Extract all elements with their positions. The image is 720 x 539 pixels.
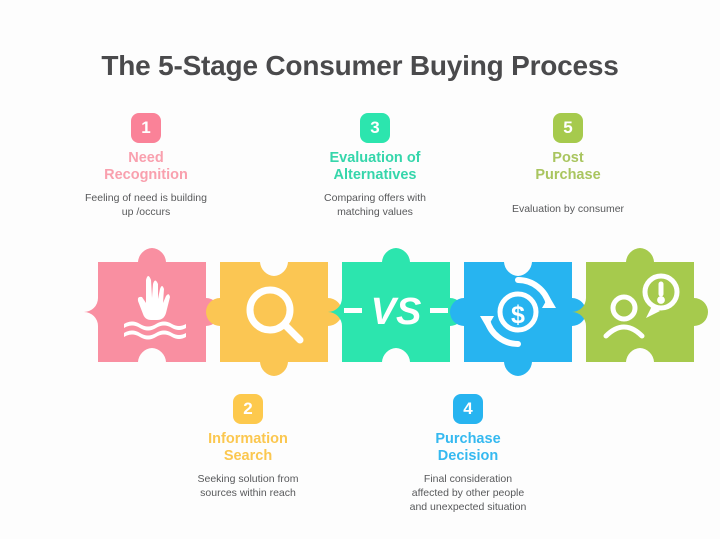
stage-desc-4-line3: and unexpected situation <box>368 500 568 514</box>
stage-badge-2: 2 <box>233 394 263 424</box>
stage-title-1: Need Recognition <box>46 150 246 184</box>
svg-text:VS: VS <box>371 291 422 333</box>
stage-title-3-line1: Evaluation of <box>255 150 495 167</box>
stage-desc-4-line1: Final consideration <box>368 472 568 486</box>
stage-desc-1: Feeling of need is building up /occurs <box>46 191 246 219</box>
svg-text:$: $ <box>511 301 525 329</box>
stage-badge-3: 3 <box>360 113 390 143</box>
stage-desc-4-line2: affected by other people <box>368 486 568 500</box>
stage-title-5-line1: Post <box>468 150 668 167</box>
stage-desc-2: Seeking solution from sources within rea… <box>148 472 348 500</box>
stage-title-1-line2: Recognition <box>46 167 246 184</box>
stage-title-5: Post Purchase <box>468 150 668 184</box>
stage-block-5: 5 Post Purchase Evaluation by consumer <box>468 113 668 216</box>
stage-title-1-line1: Need <box>46 150 246 167</box>
stage-desc-3: Comparing offers with matching values <box>255 191 495 219</box>
stage-desc-4: Final consideration affected by other pe… <box>368 472 568 514</box>
stage-block-4: 4 Purchase Decision Final consideration … <box>368 394 568 514</box>
stage-block-1: 1 Need Recognition Feeling of need is bu… <box>46 113 246 219</box>
stage-title-3-line2: Alternatives <box>255 167 495 184</box>
stage-block-3: 3 Evaluation of Alternatives Comparing o… <box>255 113 495 219</box>
stage-desc-1-line1: Feeling of need is building <box>46 191 246 205</box>
stage-badge-5: 5 <box>553 113 583 143</box>
stage-desc-3-line2: matching values <box>255 205 495 219</box>
stage-desc-5-line1: Evaluation by consumer <box>468 202 668 216</box>
stage-badge-1: 1 <box>131 113 161 143</box>
stage-title-4: Purchase Decision <box>368 431 568 465</box>
stage-desc-2-line1: Seeking solution from <box>148 472 348 486</box>
stage-title-5-line2: Purchase <box>468 167 668 184</box>
stage-desc-5: Evaluation by consumer <box>468 202 668 216</box>
stage-title-2-line2: Search <box>148 448 348 465</box>
stage-title-2-line1: Information <box>148 431 348 448</box>
stage-title-2: Information Search <box>148 431 348 465</box>
stage-badge-4: 4 <box>453 394 483 424</box>
stage-title-4-line2: Decision <box>368 448 568 465</box>
stage-block-2: 2 Information Search Seeking solution fr… <box>148 394 348 500</box>
stage-desc-1-line2: up /occurs <box>46 205 246 219</box>
page-title: The 5-Stage Consumer Buying Process <box>0 50 720 82</box>
stage-title-3: Evaluation of Alternatives <box>255 150 495 184</box>
stage-title-4-line1: Purchase <box>368 431 568 448</box>
stage-desc-2-line2: sources within reach <box>148 486 348 500</box>
puzzle-row: VS $ <box>78 236 648 376</box>
infographic-canvas: The 5-Stage Consumer Buying Process 1 Ne… <box>0 0 720 539</box>
stage-desc-3-line1: Comparing offers with <box>255 191 495 205</box>
puzzle-piece-5[interactable] <box>566 236 720 376</box>
puzzle-piece-5-shape <box>566 236 720 376</box>
